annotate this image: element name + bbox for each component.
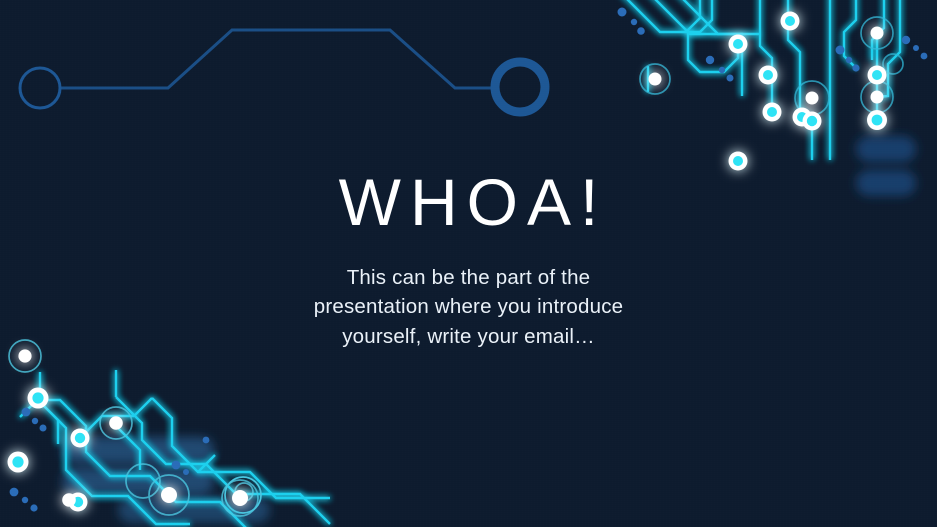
bottom-left-trace-group (20, 370, 330, 527)
decor-dot (727, 75, 734, 82)
decor-dot (172, 461, 181, 470)
slide-subtitle: This can be the part of the presentation… (284, 263, 654, 352)
decor-dot (637, 27, 645, 35)
outline-ring-icon (235, 483, 253, 501)
circuit-node-icon (71, 429, 90, 448)
decor-dot (40, 425, 47, 432)
circuit-node-white-icon (649, 73, 662, 86)
subtitle-line-1: This can be the part of the (284, 263, 654, 293)
accent-bar (62, 468, 214, 494)
outline-ring-icon (883, 54, 903, 74)
circuit-node-white-icon (62, 493, 76, 507)
decor-dot (913, 45, 919, 51)
circuit-node-icon (793, 108, 812, 127)
decor-dot (846, 57, 852, 63)
circuit-node-icon (8, 452, 29, 473)
decor-dot (183, 469, 189, 475)
faint-trace-path (60, 30, 494, 88)
decor-dot (203, 437, 210, 444)
circuit-node-white-icon (109, 416, 123, 430)
circuit-node-white-icon (806, 92, 819, 105)
decor-dot (22, 408, 31, 417)
circuit-node-icon (763, 103, 782, 122)
decor-dot (902, 36, 910, 44)
bottom-left-node-group (8, 349, 249, 511)
subtitle-line-3: yourself, write your email… (284, 322, 654, 352)
decor-dot (10, 488, 19, 497)
decor-dot (618, 8, 627, 17)
circuit-node-icon (69, 493, 88, 512)
decor-dot (921, 53, 928, 60)
decor-dot (30, 504, 37, 511)
subtitle-line-2: presentation where you introduce (284, 292, 654, 322)
circuit-node-icon (28, 388, 49, 409)
outline-ring-icon (640, 64, 670, 94)
outline-ring-icon (225, 477, 261, 513)
decor-dot (22, 497, 28, 503)
decor-dot (852, 64, 859, 71)
circuit-node-white-icon (161, 487, 177, 503)
accent-bar-bottom-left-group (62, 437, 270, 523)
top-right-outline-ring-group (640, 17, 903, 115)
circuit-node-white-icon (871, 91, 884, 104)
page-title: WHOA! (0, 168, 937, 237)
faint-ring-small-icon (20, 68, 60, 108)
circuit-node-icon (729, 35, 748, 54)
decor-dot (32, 418, 38, 424)
outline-ring-icon (222, 480, 258, 516)
outline-ring-icon (100, 407, 132, 439)
top-right-dot-group (618, 8, 928, 82)
outline-ring-icon (126, 464, 160, 498)
outline-ring-icon (861, 81, 893, 113)
circuit-node-icon (868, 66, 887, 85)
decor-dot (836, 46, 845, 55)
slide-text-block: WHOA! This can be the part of the presen… (0, 168, 937, 352)
accent-bar (118, 497, 270, 523)
top-right-node-group (649, 12, 888, 171)
decor-dot (631, 19, 637, 25)
accent-bar (856, 136, 916, 162)
circuit-node-icon (729, 35, 748, 54)
top-right-trace-group (620, 0, 900, 160)
presentation-slide: WHOA! This can be the part of the presen… (0, 0, 937, 527)
bottom-left-dot-group (10, 408, 210, 512)
decor-dot (706, 56, 714, 64)
decor-dot (719, 67, 725, 73)
circuit-node-icon (759, 66, 778, 85)
circuit-node-white-icon (232, 490, 248, 506)
outline-ring-icon (861, 17, 893, 49)
faint-ring-large-icon (495, 62, 545, 112)
bottom-right-node-group (225, 477, 261, 513)
circuit-node-white-icon (871, 27, 884, 40)
outline-ring-icon (149, 475, 189, 515)
bottom-left-outline-ring-group (9, 340, 258, 516)
accent-bar (62, 437, 214, 463)
outline-ring-icon (795, 81, 829, 115)
circuit-node-icon (867, 110, 887, 130)
circuit-node-icon (781, 12, 800, 31)
circuit-node-icon (803, 112, 822, 131)
